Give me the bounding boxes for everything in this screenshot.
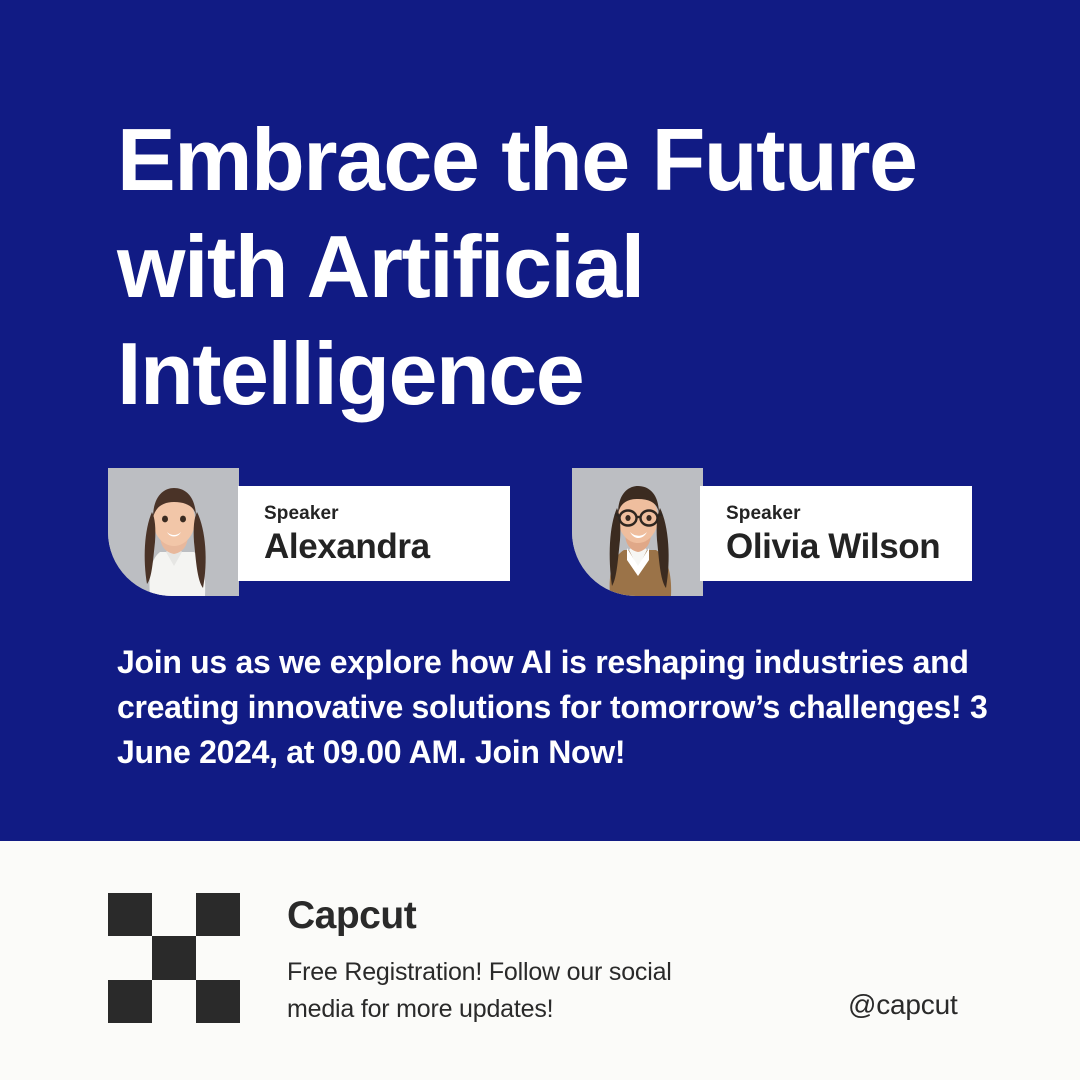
- poster-canvas: Embrace the Future with Artificial Intel…: [0, 0, 1080, 1080]
- speaker-info: Speaker Olivia Wilson: [700, 486, 972, 581]
- page-title: Embrace the Future with Artificial Intel…: [117, 106, 1017, 427]
- speaker-card-alexandra: Speaker Alexandra: [108, 468, 510, 600]
- speaker-role-label: Speaker: [726, 503, 972, 525]
- avatar: [572, 468, 703, 596]
- speaker-role-label: Speaker: [264, 503, 510, 525]
- speaker-name: Olivia Wilson: [726, 526, 972, 568]
- brand-name: Capcut: [287, 893, 416, 939]
- speaker-name: Alexandra: [264, 526, 510, 568]
- speaker-card-olivia-wilson: Speaker Olivia Wilson: [572, 468, 972, 600]
- speaker-info: Speaker Alexandra: [238, 486, 510, 581]
- capcut-checkerboard-logo-icon: [108, 893, 240, 1023]
- avatar: [108, 468, 239, 596]
- event-description: Join us as we explore how AI is reshapin…: [117, 640, 997, 775]
- social-handle: @capcut: [848, 988, 958, 1021]
- footer-tagline: Free Registration! Follow our social med…: [287, 954, 717, 1028]
